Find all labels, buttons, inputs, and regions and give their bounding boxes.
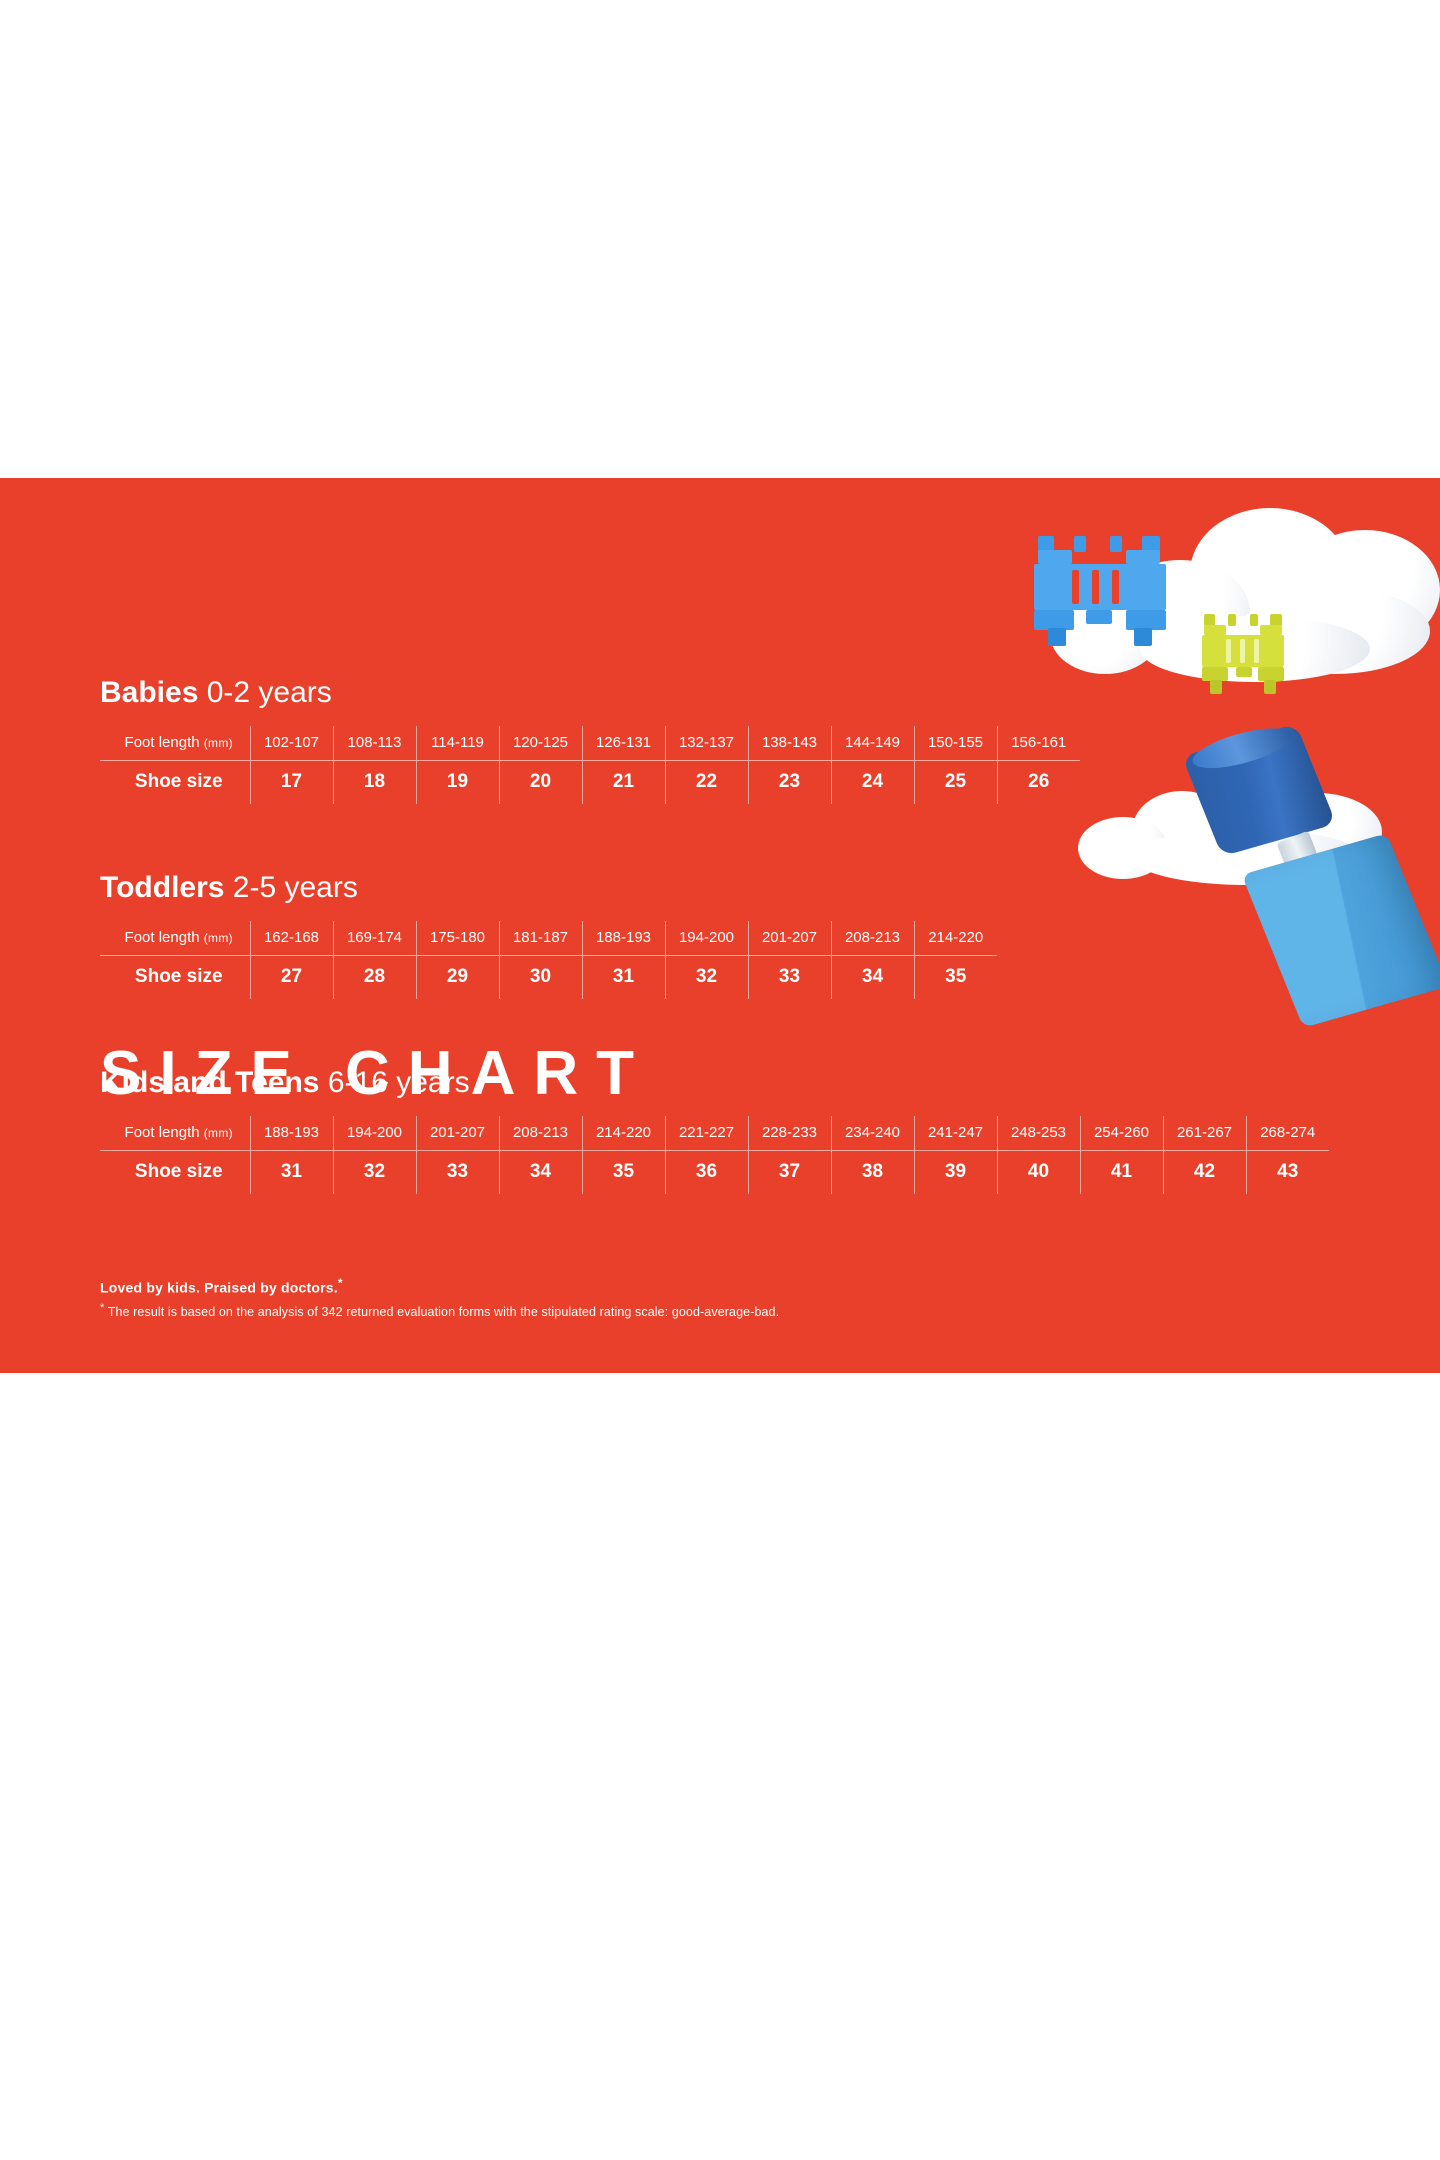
cell-shoe-size: 27 — [250, 955, 333, 999]
cell-foot-length: 120-125 — [499, 726, 582, 760]
footer: Loved by kids. Praised by doctors.* * Th… — [100, 1276, 779, 1319]
size-chart-panel: SIZE CHART Babies 0-2 years Foot length … — [0, 478, 1440, 1373]
cell-foot-length: 254-260 — [1080, 1116, 1163, 1150]
cell-foot-length: 150-155 — [914, 726, 997, 760]
cell-foot-length: 248-253 — [997, 1116, 1080, 1150]
section-kids-and-teens: Kids and Teens 6-16 years Foot length (m… — [100, 1068, 1329, 1194]
row-label-foot-length-unit: (mm) — [204, 736, 233, 750]
row-label-shoe-size: Shoe size — [100, 1150, 250, 1194]
cell-foot-length: 214-220 — [914, 921, 997, 955]
table-row-shoe-size-toddlers: Shoe size 27 28 29 30 31 32 33 34 35 — [100, 955, 997, 999]
cell-shoe-size: 38 — [831, 1150, 914, 1194]
cell-foot-length: 221-227 — [665, 1116, 748, 1150]
cell-foot-length: 132-137 — [665, 726, 748, 760]
row-label-foot-length-unit: (mm) — [204, 931, 233, 945]
section-age-babies: 0-2 years — [207, 676, 332, 709]
cell-foot-length: 201-207 — [416, 1116, 499, 1150]
cell-shoe-size: 31 — [250, 1150, 333, 1194]
decoration-invader-yellow — [1200, 610, 1286, 700]
table-row-shoe-size-kids-and-teens: Shoe size 31 32 33 34 35 36 37 38 39 40 … — [100, 1150, 1329, 1194]
size-table-kids-and-teens: Foot length (mm) 188-193 194-200 201-207… — [100, 1116, 1329, 1194]
cell-foot-length: 144-149 — [831, 726, 914, 760]
table-row-foot-length-kids-and-teens: Foot length (mm) 188-193 194-200 201-207… — [100, 1116, 1329, 1150]
cell-foot-length: 208-213 — [499, 1116, 582, 1150]
cell-foot-length: 175-180 — [416, 921, 499, 955]
cell-foot-length: 126-131 — [582, 726, 665, 760]
section-babies: Babies 0-2 years Foot length (mm) 102-10… — [100, 678, 1080, 804]
cell-shoe-size: 35 — [914, 955, 997, 999]
cell-shoe-size: 34 — [831, 955, 914, 999]
section-age-kids-and-teens: 6-16 years — [328, 1066, 470, 1099]
footer-note-text: The result is based on the analysis of 3… — [108, 1305, 779, 1319]
cell-shoe-size: 34 — [499, 1150, 582, 1194]
cell-shoe-size: 41 — [1080, 1150, 1163, 1194]
footer-note-marker: * — [100, 1302, 104, 1314]
cell-shoe-size: 22 — [665, 760, 748, 804]
cell-shoe-size: 19 — [416, 760, 499, 804]
cell-foot-length: 162-168 — [250, 921, 333, 955]
section-name-toddlers: Toddlers — [100, 871, 224, 904]
cell-foot-length: 214-220 — [582, 1116, 665, 1150]
cell-shoe-size: 35 — [582, 1150, 665, 1194]
cell-shoe-size: 32 — [665, 955, 748, 999]
row-label-foot-length-text: Foot length — [125, 1124, 200, 1141]
section-heading-kids-and-teens: Kids and Teens 6-16 years — [100, 1068, 1329, 1098]
section-age-toddlers: 2-5 years — [233, 871, 358, 904]
cell-foot-length: 201-207 — [748, 921, 831, 955]
cell-shoe-size: 31 — [582, 955, 665, 999]
decoration-cloud-bottom — [1072, 763, 1402, 893]
size-table-babies: Foot length (mm) 102-107 108-113 114-119… — [100, 726, 1080, 804]
decoration-invader-blue — [1030, 528, 1170, 658]
cell-shoe-size: 18 — [333, 760, 416, 804]
row-label-shoe-size: Shoe size — [100, 955, 250, 999]
cell-foot-length: 188-193 — [250, 1116, 333, 1150]
cell-shoe-size: 24 — [831, 760, 914, 804]
cell-foot-length: 261-267 — [1163, 1116, 1246, 1150]
cell-shoe-size: 25 — [914, 760, 997, 804]
cell-shoe-size: 43 — [1246, 1150, 1329, 1194]
row-label-shoe-size: Shoe size — [100, 760, 250, 804]
cell-foot-length: 228-233 — [748, 1116, 831, 1150]
section-heading-babies: Babies 0-2 years — [100, 678, 1080, 708]
cell-shoe-size: 29 — [416, 955, 499, 999]
section-toddlers: Toddlers 2-5 years Foot length (mm) 162-… — [100, 873, 997, 999]
cell-shoe-size: 40 — [997, 1150, 1080, 1194]
cell-foot-length: 234-240 — [831, 1116, 914, 1150]
section-name-kids-and-teens: Kids and Teens — [100, 1066, 320, 1099]
section-name-babies: Babies — [100, 676, 198, 709]
row-label-foot-length: Foot length (mm) — [100, 726, 250, 760]
cell-foot-length: 102-107 — [250, 726, 333, 760]
cell-shoe-size: 32 — [333, 1150, 416, 1194]
cell-foot-length: 208-213 — [831, 921, 914, 955]
cell-shoe-size: 39 — [914, 1150, 997, 1194]
cell-shoe-size: 42 — [1163, 1150, 1246, 1194]
cell-foot-length: 181-187 — [499, 921, 582, 955]
cell-foot-length: 169-174 — [333, 921, 416, 955]
cell-foot-length: 194-200 — [665, 921, 748, 955]
footer-tagline-text: Loved by kids. Praised by doctors. — [100, 1280, 338, 1296]
cell-shoe-size: 30 — [499, 955, 582, 999]
footer-tagline-marker: * — [338, 1276, 343, 1290]
decoration-cloud-top — [1040, 508, 1440, 688]
cell-shoe-size: 26 — [997, 760, 1080, 804]
row-label-foot-length-text: Foot length — [125, 929, 200, 946]
row-label-foot-length-text: Foot length — [125, 734, 200, 751]
cell-foot-length: 138-143 — [748, 726, 831, 760]
row-label-foot-length: Foot length (mm) — [100, 1116, 250, 1150]
cell-shoe-size: 33 — [748, 955, 831, 999]
cell-foot-length: 241-247 — [914, 1116, 997, 1150]
cell-foot-length: 156-161 — [997, 726, 1080, 760]
table-row-foot-length-babies: Foot length (mm) 102-107 108-113 114-119… — [100, 726, 1080, 760]
cell-foot-length: 108-113 — [333, 726, 416, 760]
cell-shoe-size: 17 — [250, 760, 333, 804]
cell-shoe-size: 33 — [416, 1150, 499, 1194]
cell-shoe-size: 37 — [748, 1150, 831, 1194]
cell-foot-length: 188-193 — [582, 921, 665, 955]
cell-shoe-size: 36 — [665, 1150, 748, 1194]
cell-shoe-size: 21 — [582, 760, 665, 804]
cell-shoe-size: 23 — [748, 760, 831, 804]
footer-tagline: Loved by kids. Praised by doctors.* — [100, 1276, 779, 1296]
section-heading-toddlers: Toddlers 2-5 years — [100, 873, 997, 903]
cell-foot-length: 114-119 — [416, 726, 499, 760]
cell-foot-length: 268-274 — [1246, 1116, 1329, 1150]
table-row-foot-length-toddlers: Foot length (mm) 162-168 169-174 175-180… — [100, 921, 997, 955]
table-row-shoe-size-babies: Shoe size 17 18 19 20 21 22 23 24 25 26 — [100, 760, 1080, 804]
row-label-foot-length-unit: (mm) — [204, 1126, 233, 1140]
poster-page: SIZE CHART Babies 0-2 years Foot length … — [0, 0, 1440, 2160]
size-table-toddlers: Foot length (mm) 162-168 169-174 175-180… — [100, 921, 997, 999]
row-label-foot-length: Foot length (mm) — [100, 921, 250, 955]
footer-note: * The result is based on the analysis of… — [100, 1302, 779, 1319]
cell-foot-length: 194-200 — [333, 1116, 416, 1150]
cell-shoe-size: 28 — [333, 955, 416, 999]
cell-shoe-size: 20 — [499, 760, 582, 804]
